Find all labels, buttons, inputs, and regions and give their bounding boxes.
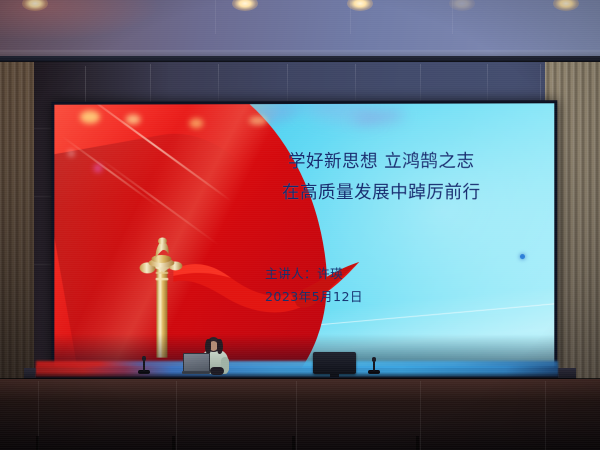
desk-panel-seam [420, 381, 421, 450]
desk-monitor-stand [330, 373, 339, 377]
desk-leg [292, 436, 295, 450]
bokeh-light [189, 118, 203, 128]
wall-panel-seam [420, 64, 421, 104]
desk-monitor [313, 352, 356, 374]
desk-leg [36, 436, 39, 450]
slide-title-line1: 学好新思想 立鸿鹄之志 [231, 147, 532, 179]
desk-panel-seam [296, 381, 297, 450]
slide-meta: 主讲人：许瑛 2023年5月12日 [265, 262, 516, 308]
bokeh-light [249, 116, 267, 125]
led-screen[interactable]: 学好新思想 立鸿鹄之志 在高质量发展中踔厉前行 主讲人：许瑛 2023年5月12… [54, 103, 554, 368]
slide-date: 2023年5月12日 [265, 285, 516, 308]
laptop-base [182, 371, 210, 374]
bokeh-light [94, 164, 102, 172]
slide-title-line2: 在高质量发展中踔厉前行 [231, 178, 532, 209]
slide-title: 学好新思想 立鸿鹄之志 在高质量发展中踔厉前行 [231, 147, 532, 209]
wall-horizontal-seam [34, 128, 52, 129]
wall-panel-seam [355, 64, 356, 104]
presenter-hair [205, 339, 211, 354]
conference-hall-photo: 学好新思想 立鸿鹄之志 在高质量发展中踔厉前行 主讲人：许瑛 2023年5月12… [0, 0, 600, 450]
wall-horizontal-seam [34, 264, 52, 265]
laptop-screen [183, 353, 210, 373]
slide-speaker: 主讲人：许瑛 [265, 262, 516, 285]
left-curtain-shading [0, 62, 34, 392]
desk-panel-seam [176, 381, 177, 450]
wall-panel-seam [218, 64, 219, 104]
ceiling-seam [215, 0, 216, 34]
presenter-hair [217, 339, 223, 354]
wall-panel-seam [287, 64, 288, 104]
wall-horizontal-seam [34, 196, 52, 197]
bokeh-light [126, 114, 141, 124]
screen-pixel-dot [520, 254, 525, 259]
desk-leg [416, 436, 419, 450]
bokeh-light [80, 111, 100, 124]
desk-panel-seam [545, 381, 546, 450]
desk-leg [172, 436, 175, 450]
red-drape-sheen [54, 103, 349, 368]
wall-panel-seam [487, 64, 488, 104]
bokeh-light [68, 150, 74, 156]
presenter-hands [210, 367, 224, 375]
desk-front-sheen [0, 379, 600, 401]
led-screen-bezel: 学好新思想 立鸿鹄之志 在高质量发展中踔厉前行 主讲人：许瑛 2023年5月12… [51, 100, 557, 371]
laptop [182, 353, 210, 373]
